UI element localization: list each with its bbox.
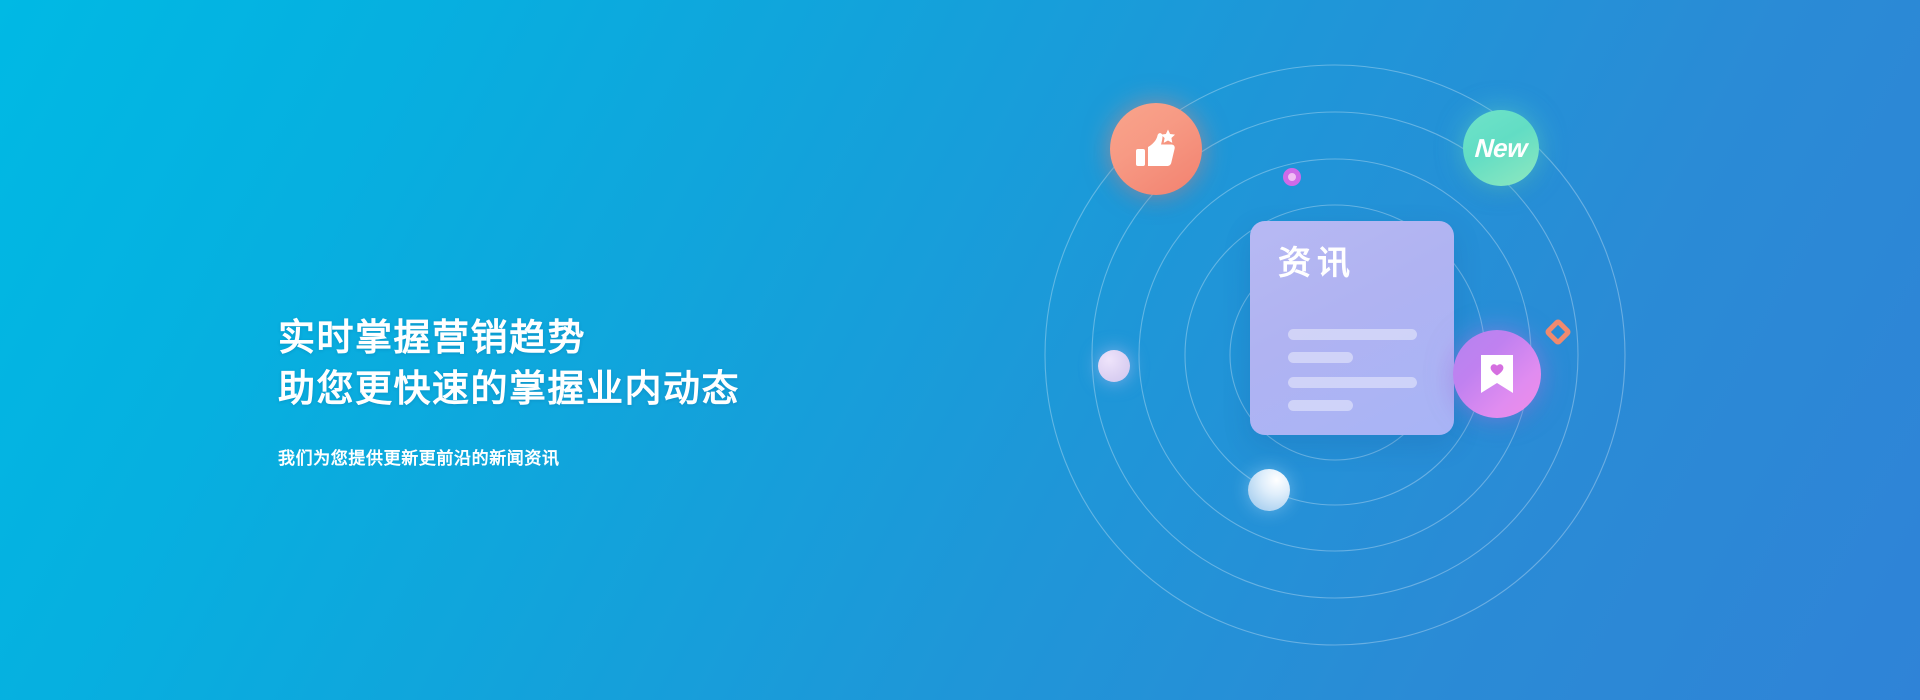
headline-line-1: 实时掌握营销趋势 [278, 312, 918, 363]
hero-subtitle: 我们为您提供更新更前沿的新闻资讯 [278, 446, 918, 472]
thumbs-up-star-icon [1130, 123, 1182, 175]
news-card-placeholder-line [1288, 400, 1353, 411]
news-document-card[interactable]: 资讯 [1250, 221, 1454, 435]
news-card-placeholder-line [1288, 329, 1417, 340]
bookmark-badge[interactable] [1453, 330, 1541, 418]
hero-illustration: 资讯 New [1010, 0, 1710, 700]
blue-sphere-decoration [1248, 469, 1290, 511]
pink-ring-decoration [1283, 168, 1301, 186]
lavender-sphere-decoration [1098, 350, 1130, 382]
new-badge[interactable]: New [1463, 110, 1539, 186]
headline-line-2: 助您更快速的掌握业内动态 [278, 363, 918, 414]
news-card-title: 资讯 [1278, 243, 1356, 283]
bookmark-heart-icon [1477, 352, 1517, 396]
hero-copy-block: 实时掌握营销趋势 助您更快速的掌握业内动态 我们为您提供更新更前沿的新闻资讯 [278, 312, 918, 472]
new-badge-label: New [1474, 133, 1528, 164]
hero-banner: 实时掌握营销趋势 助您更快速的掌握业内动态 我们为您提供更新更前沿的新闻资讯 资… [0, 0, 1920, 700]
orange-diamond-decoration [1544, 318, 1572, 346]
news-card-placeholder-line [1288, 377, 1417, 388]
news-card-placeholder-line [1288, 352, 1353, 363]
like-badge[interactable] [1110, 103, 1202, 195]
